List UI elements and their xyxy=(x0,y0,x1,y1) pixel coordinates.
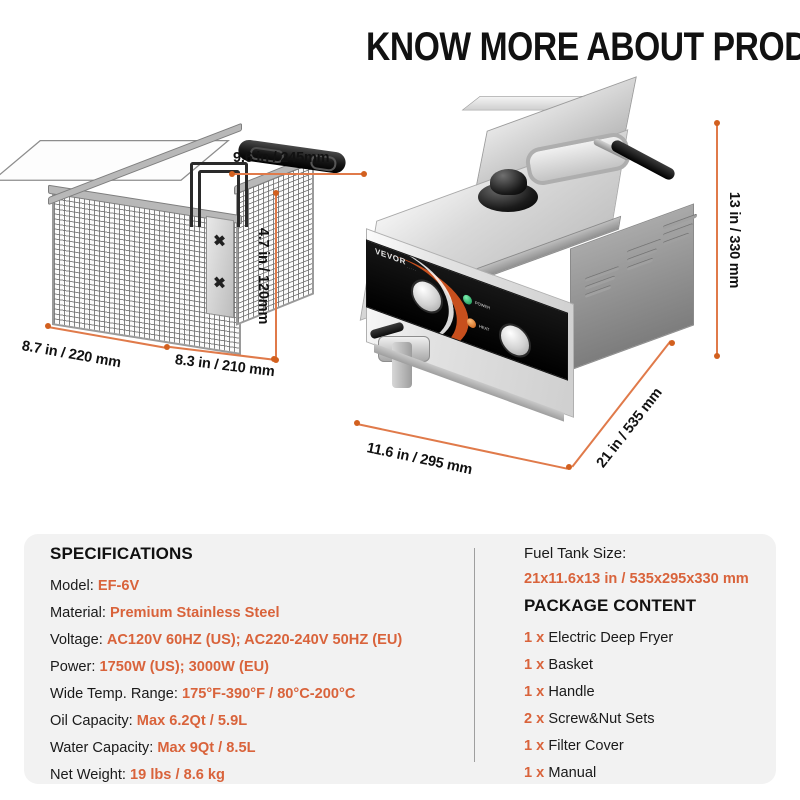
dim-dot-basket-width-start xyxy=(45,323,51,329)
timer-control-knob[interactable] xyxy=(499,319,531,363)
dim-label-basket-handle: 9.6 in / 245mm xyxy=(233,150,329,166)
heat-indicator-light xyxy=(467,317,476,329)
specifications-heading: SPECIFICATIONS xyxy=(50,544,470,564)
spec-value-material: Premium Stainless Steel xyxy=(110,605,280,621)
spec-label-material: Material: xyxy=(50,605,106,621)
fryer-lid-knob xyxy=(478,182,538,212)
package-item-qty: 1 x xyxy=(524,657,544,673)
package-item: 1 x Electric Deep Fryer xyxy=(524,625,774,652)
spec-label-model: Model: xyxy=(50,578,94,594)
spec-value-oil-capacity: Max 6.2Qt / 5.9L xyxy=(137,713,247,729)
spec-label-water-capacity: Water Capacity: xyxy=(50,740,153,756)
dim-line-fryer-height xyxy=(716,123,718,355)
spec-row-power: Power: 1750W (US); 3000W (EU) xyxy=(50,654,470,681)
spec-row-water-capacity: Water Capacity: Max 9Qt / 8.5L xyxy=(50,735,470,762)
package-column: Fuel Tank Size: 21x11.6x13 in / 535x295x… xyxy=(524,542,774,787)
spec-value-net-weight: 19 lbs / 8.6 kg xyxy=(130,767,225,783)
package-item-name: Basket xyxy=(548,657,593,673)
package-item-qty: 1 x xyxy=(524,765,544,781)
package-item-qty: 1 x xyxy=(524,738,544,754)
product-illustration-stage: ✖ ✖ xyxy=(0,80,800,520)
dim-dot-basket-height-top xyxy=(273,190,279,196)
page-title: KNOW MORE ABOUT PRODUCT xyxy=(366,24,744,70)
package-item-name: Handle xyxy=(548,684,594,700)
spec-row-material: Material: Premium Stainless Steel xyxy=(50,600,470,627)
fuel-tank-size-value: 21x11.6x13 in / 535x295x330 mm xyxy=(524,566,774,592)
package-item-name: Manual xyxy=(548,765,596,781)
package-item-name: Electric Deep Fryer xyxy=(548,630,673,646)
dim-line-basket-handle xyxy=(232,173,364,175)
package-item-qty: 1 x xyxy=(524,684,544,700)
package-content-heading: PACKAGE CONTENT xyxy=(524,596,774,616)
dim-dot-fryer-height-bottom xyxy=(714,353,720,359)
spec-row-temp-range: Wide Temp. Range: 175°F-390°F / 80°C-200… xyxy=(50,681,470,708)
dim-line-basket-height xyxy=(275,193,277,359)
spec-row-net-weight: Net Weight: 19 lbs / 8.6 kg xyxy=(50,762,470,789)
spec-label-oil-capacity: Oil Capacity: xyxy=(50,713,133,729)
spec-label-power: Power: xyxy=(50,659,95,675)
spec-value-power: 1750W (US); 3000W (EU) xyxy=(99,659,269,675)
spec-label-voltage: Voltage: xyxy=(50,632,103,648)
panel-divider xyxy=(474,548,475,762)
dim-dot-basket-handle-start xyxy=(229,171,235,177)
dim-label-fryer-height: 13 in / 330 mm xyxy=(726,192,742,288)
basket-handle-bracket-inner xyxy=(198,170,240,227)
specifications-column: SPECIFICATIONS Model: EF-6V Material: Pr… xyxy=(50,544,470,789)
power-indicator-label: POWER xyxy=(475,300,490,311)
dim-dot-fryer-height-top xyxy=(714,120,720,126)
spec-value-temp-range: 175°F-390°F / 80°C-200°C xyxy=(182,686,355,702)
package-item-name: Filter Cover xyxy=(548,738,623,754)
dim-dot-basket-handle-end xyxy=(361,171,367,177)
spec-value-model: EF-6V xyxy=(98,578,139,594)
package-item-qty: 1 x xyxy=(524,630,544,646)
dim-dot-fryer-width-end xyxy=(669,340,675,346)
spec-row-oil-capacity: Oil Capacity: Max 6.2Qt / 5.9L xyxy=(50,708,470,735)
package-item: 1 x Manual xyxy=(524,760,774,787)
package-item-qty: 2 x xyxy=(524,711,544,727)
package-item: 2 x Screw&Nut Sets xyxy=(524,706,774,733)
dim-dot-fryer-depth-start xyxy=(354,420,360,426)
dim-label-basket-height: 4.7 in / 120mm xyxy=(255,228,271,324)
heat-indicator-label: HEAT xyxy=(479,323,489,332)
spec-label-net-weight: Net Weight: xyxy=(50,767,126,783)
fuel-tank-size-label: Fuel Tank Size: xyxy=(524,542,774,566)
package-item: 1 x Handle xyxy=(524,679,774,706)
basket-mount-plate: ✖ ✖ xyxy=(206,216,234,318)
spec-value-voltage: AC120V 60HZ (US); AC220-240V 50HZ (EU) xyxy=(107,632,402,648)
infographic-page: KNOW MORE ABOUT PRODUCT ✖ ✖ xyxy=(0,0,800,800)
package-item: 1 x Basket xyxy=(524,652,774,679)
power-indicator-light xyxy=(463,294,472,306)
electric-deep-fryer-illustration: VEVOR · · · · · POWER HEAT xyxy=(330,90,690,430)
spec-value-water-capacity: Max 9Qt / 8.5L xyxy=(157,740,255,756)
package-item: 1 x Filter Cover xyxy=(524,733,774,760)
basket-screw-x-upper: ✖ xyxy=(213,234,226,249)
dim-dot-basket-depth-end xyxy=(271,356,277,362)
package-item-name: Screw&Nut Sets xyxy=(548,711,654,727)
spec-row-voltage: Voltage: AC120V 60HZ (US); AC220-240V 50… xyxy=(50,627,470,654)
basket-screw-x-lower: ✖ xyxy=(213,276,226,291)
spec-row-model: Model: EF-6V xyxy=(50,573,470,600)
spec-label-temp-range: Wide Temp. Range: xyxy=(50,686,178,702)
